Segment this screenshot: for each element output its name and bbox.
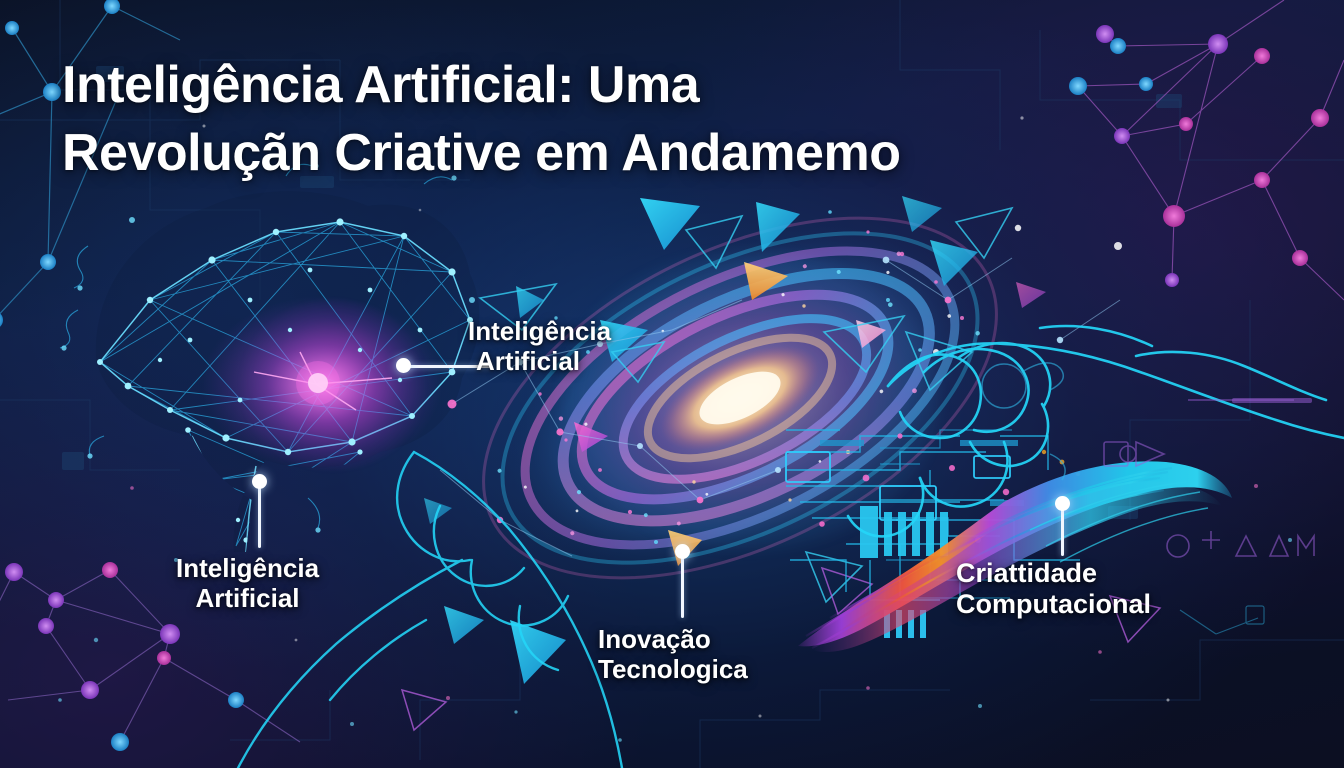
callout-line-1: Criattidade <box>956 558 1151 589</box>
callout-label: Inteligência Artificial <box>468 316 611 376</box>
leader-line-criatividade <box>1061 508 1064 556</box>
leader-dot-hand <box>252 474 267 489</box>
callout-line-2: Computacional <box>956 589 1151 620</box>
callout-inteligencia-artificial-hand: Inteligência Artificial <box>176 553 319 613</box>
callout-line-1: Inteligência <box>468 316 611 346</box>
callout-label: Inteligência Artificial <box>176 553 319 613</box>
callout-line-2: Tecnologica <box>598 654 748 684</box>
callout-label: Criattidade Computacional <box>956 558 1151 621</box>
callout-inteligencia-artificial-brain: Inteligência Artificial <box>468 316 611 376</box>
title-line-1: Inteligência Artificial: Uma <box>62 52 900 120</box>
callout-line-2: Artificial <box>176 583 319 613</box>
leader-line-hand <box>258 486 261 548</box>
callout-line-1: Inteligência <box>176 553 319 583</box>
callout-line-2: Artificial <box>476 346 611 376</box>
callout-inovacao-tecnologica: Inovação Tecnologica <box>598 624 748 684</box>
leader-line-inovacao <box>681 556 684 618</box>
callout-label: Inovação Tecnologica <box>598 624 748 684</box>
poster-canvas: Inteligência Artificial: Uma Revoluçãn C… <box>0 0 1344 768</box>
title-line-2: Revoluçãn Criative em Andamemo <box>62 120 900 188</box>
leader-dot-criatividade <box>1055 496 1070 511</box>
leader-dot-brain <box>396 358 411 373</box>
leader-dot-inovacao <box>675 544 690 559</box>
callout-line-1: Inovação <box>598 624 748 654</box>
callout-criatividade-computacional: Criattidade Computacional <box>956 558 1151 621</box>
page-title: Inteligência Artificial: Uma Revoluçãn C… <box>62 52 900 187</box>
